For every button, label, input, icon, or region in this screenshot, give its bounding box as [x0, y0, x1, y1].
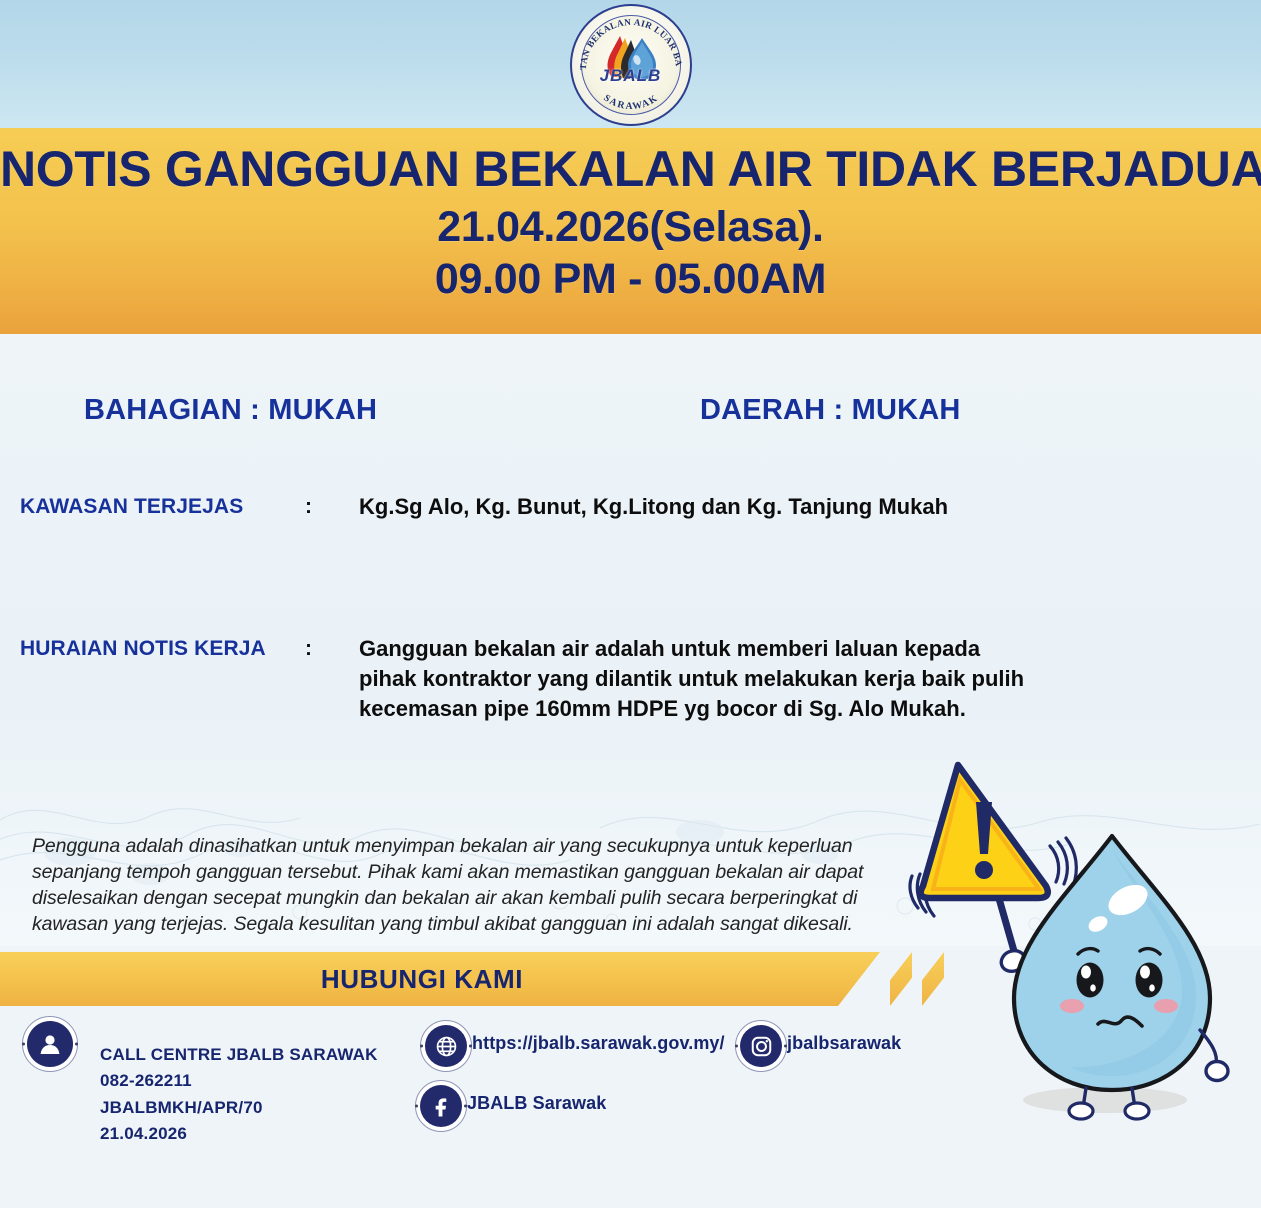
person-icon	[22, 1016, 78, 1072]
contacts-section: CALL CENTRE JBALB SARAWAK 082-262211 JBA…	[0, 1006, 1261, 1208]
call-centre-lines: CALL CENTRE JBALB SARAWAK 082-262211 JBA…	[100, 1016, 378, 1147]
band-slash-decoration-1	[890, 952, 912, 1006]
facebook-icon[interactable]	[415, 1080, 467, 1132]
notice-body: BAHAGIAN : MUKAH DAERAH : MUKAH KAWASAN …	[0, 334, 1261, 946]
contact-call-centre: CALL CENTRE JBALB SARAWAK 082-262211 JBA…	[22, 1016, 378, 1147]
affected-areas-colon: :	[305, 492, 359, 519]
svg-text:SARAWAK: SARAWAK	[601, 92, 660, 112]
globe-icon[interactable]	[420, 1020, 472, 1072]
call-centre-line-1: CALL CENTRE JBALB SARAWAK	[100, 1042, 378, 1068]
call-centre-line-4: 21.04.2026	[100, 1121, 378, 1147]
division-block: BAHAGIAN : MUKAH	[0, 394, 700, 427]
logo-acronym: JBALB	[570, 66, 692, 86]
jbalb-logo: JABATAN BEKALAN AIR LUAR BANDAR SARAWAK …	[570, 4, 692, 126]
affected-areas-row: KAWASAN TERJEJAS : Kg.Sg Alo, Kg. Bunut,…	[0, 492, 1261, 522]
banner-time: 09.00 PM - 05.00AM	[0, 256, 1261, 302]
contact-website[interactable]: https://jbalb.sarawak.gov.my/	[420, 1020, 725, 1072]
contact-instagram[interactable]: jbalbsarawak	[735, 1020, 901, 1072]
affected-areas-label: KAWASAN TERJEJAS	[0, 492, 305, 519]
contact-band: HUBUNGI KAMI	[0, 952, 880, 1006]
work-description-label: HURAIAN NOTIS KERJA	[0, 634, 305, 661]
facebook-label[interactable]: JBALB Sarawak	[467, 1080, 606, 1114]
facebook-glyph	[429, 1094, 454, 1119]
division-text: BAHAGIAN : MUKAH	[84, 394, 377, 426]
website-label[interactable]: https://jbalb.sarawak.gov.my/	[472, 1020, 725, 1054]
instagram-icon[interactable]	[735, 1020, 787, 1072]
band-slash-decoration-2	[922, 952, 944, 1006]
disclaimer-text: Pengguna adalah dinasihatkan untuk menyi…	[32, 834, 904, 938]
affected-areas-value: Kg.Sg Alo, Kg. Bunut, Kg.Litong dan Kg. …	[359, 492, 1261, 522]
region-row: BAHAGIAN : MUKAH DAERAH : MUKAH	[0, 394, 1261, 427]
work-description-row: HURAIAN NOTIS KERJA : Gangguan bekalan a…	[0, 634, 1261, 724]
district-text: DAERAH : MUKAH	[700, 394, 961, 426]
call-centre-line-2: 082-262211	[100, 1068, 378, 1094]
title-banner: NOTIS GANGGUAN BEKALAN AIR TIDAK BERJADU…	[0, 128, 1261, 334]
call-centre-line-3: JBALBMKH/APR/70	[100, 1095, 378, 1121]
work-description-colon: :	[305, 634, 359, 661]
globe-glyph	[434, 1034, 459, 1059]
notice-poster: JABATAN BEKALAN AIR LUAR BANDAR SARAWAK …	[0, 0, 1261, 1208]
district-block: DAERAH : MUKAH	[700, 394, 1261, 427]
instagram-glyph	[749, 1034, 774, 1059]
contact-band-wrap: HUBUNGI KAMI	[0, 952, 1261, 1006]
instagram-label[interactable]: jbalbsarawak	[787, 1020, 901, 1054]
banner-date: 21.04.2026(Selasa).	[0, 204, 1261, 250]
contact-facebook[interactable]: JBALB Sarawak	[415, 1080, 606, 1132]
person-glyph	[37, 1031, 63, 1057]
contact-band-title: HUBUNGI KAMI	[321, 964, 523, 995]
banner-title: NOTIS GANGGUAN BEKALAN AIR TIDAK BERJADU…	[0, 142, 1261, 196]
poster-header: JABATAN BEKALAN AIR LUAR BANDAR SARAWAK …	[0, 0, 1261, 128]
work-description-value: Gangguan bekalan air adalah untuk member…	[359, 634, 1149, 724]
